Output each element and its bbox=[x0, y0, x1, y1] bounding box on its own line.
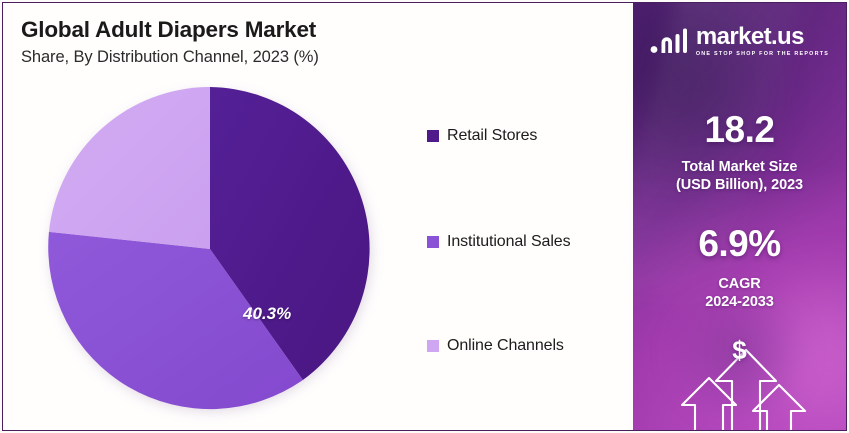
pie-slice-online-channels[interactable] bbox=[49, 87, 210, 249]
pie-chart: 40.3% bbox=[48, 86, 372, 412]
legend-item-online-channels[interactable]: Online Channels bbox=[427, 337, 564, 355]
pie-chart-svg bbox=[48, 86, 372, 412]
stats-panel: market.us ONE STOP SHOP FOR THE REPORTS … bbox=[633, 3, 846, 430]
page-title: Global Adult Diapers Market bbox=[21, 17, 316, 43]
page-subtitle: Share, By Distribution Channel, 2023 (%) bbox=[21, 48, 319, 67]
cagr-label-line1: CAGR bbox=[718, 276, 760, 292]
legend-label: Online Channels bbox=[447, 337, 564, 355]
legend-item-institutional-sales[interactable]: Institutional Sales bbox=[427, 233, 571, 251]
cagr-value: 6.9% bbox=[633, 225, 846, 262]
legend: Retail Stores Institutional Sales Online… bbox=[427, 3, 627, 430]
cagr-label: CAGR 2024-2033 bbox=[633, 275, 846, 312]
chart-panel: Global Adult Diapers Market Share, By Di… bbox=[3, 3, 629, 430]
market-size-label: Total Market Size (USD Billion), 2023 bbox=[633, 158, 846, 195]
market-size-label-line2: (USD Billion), 2023 bbox=[676, 177, 803, 193]
market-us-bars-logo-icon bbox=[650, 28, 690, 54]
square-swatch-icon bbox=[427, 340, 439, 352]
legend-item-retail-stores[interactable]: Retail Stores bbox=[427, 127, 537, 145]
market-size-value: 18.2 bbox=[633, 111, 846, 148]
brand-logo[interactable]: market.us ONE STOP SHOP FOR THE REPORTS bbox=[633, 25, 846, 57]
dollar-symbol: $ bbox=[633, 337, 846, 363]
market-size-label-line1: Total Market Size bbox=[682, 159, 798, 175]
legend-label: Retail Stores bbox=[447, 127, 537, 145]
square-swatch-icon bbox=[427, 236, 439, 248]
cagr-label-line2: 2024-2033 bbox=[705, 294, 773, 310]
pie-data-label: 40.3% bbox=[243, 304, 291, 324]
growth-arrows-graphic: $ bbox=[633, 323, 846, 430]
brand-tagline: ONE STOP SHOP FOR THE REPORTS bbox=[696, 52, 829, 57]
legend-label: Institutional Sales bbox=[447, 233, 571, 251]
infographic-root: Global Adult Diapers Market Share, By Di… bbox=[0, 0, 849, 433]
square-swatch-icon bbox=[427, 130, 439, 142]
brand-name: market.us bbox=[696, 25, 829, 49]
